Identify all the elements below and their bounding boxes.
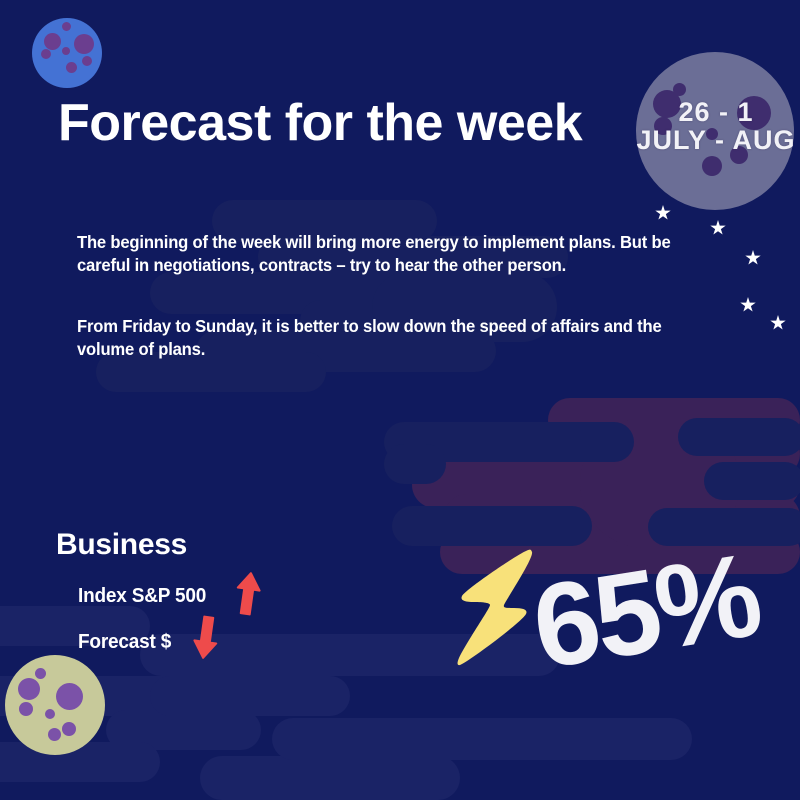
- forecast-paragraph-2: From Friday to Sunday, it is better to s…: [77, 315, 685, 361]
- star-icon: [740, 297, 756, 313]
- star-icon: [770, 315, 786, 331]
- forecast-poster: 26 - 1 JULY - AUG Forecast for the week …: [0, 0, 800, 800]
- business-heading: Business: [56, 528, 187, 562]
- arrow-up-icon: [232, 570, 264, 623]
- metric-forecast-dollar-label: Forecast $: [78, 631, 171, 654]
- star-icon: [745, 250, 761, 266]
- star-icon: [710, 220, 726, 236]
- page-title: Forecast for the week: [58, 93, 582, 153]
- star-icon: [655, 205, 671, 221]
- arrow-down-icon: [190, 613, 222, 666]
- metric-index-sp500-label: Index S&P 500: [78, 585, 206, 608]
- date-range-months: JULY - AUG: [616, 126, 800, 154]
- date-range-days: 26 - 1: [616, 98, 800, 126]
- forecast-paragraph-1: The beginning of the week will bring mor…: [77, 231, 685, 277]
- percent-highlight: 65%: [524, 527, 767, 696]
